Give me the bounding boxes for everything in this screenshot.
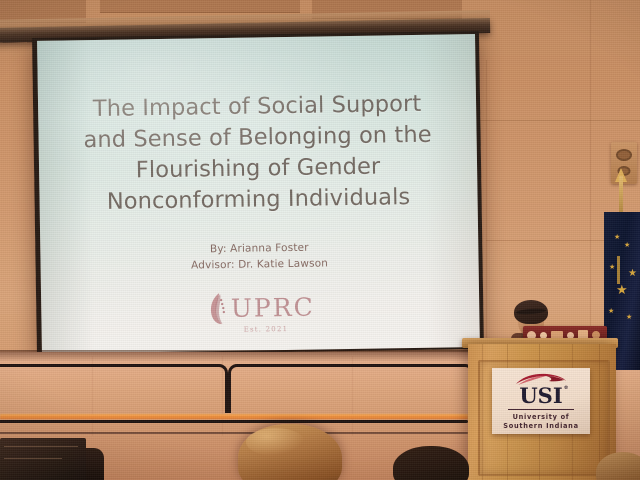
usi-subtitle-line: Southern Indiana [503,422,578,431]
flag-torch-emblem [617,256,620,284]
accent-light-strip [0,414,468,419]
projection-screen: The Impact of Social Support and Sense o… [32,31,484,356]
screen-surface: The Impact of Social Support and Sense o… [37,34,480,354]
wall-panel-inset [100,0,300,13]
slide-title-line: Nonconforming Individuals [57,181,460,218]
wall-seam [590,0,591,352]
list-item [238,424,342,480]
equipment-edge [4,446,78,447]
slide-advisor: Advisor: Dr. Katie Lawson [191,255,328,273]
slide-byline-block: By: Arianna Foster Advisor: Dr. Katie La… [191,239,328,273]
balcony-railing [228,364,474,413]
uprc-wordmark: UPRC [231,294,315,320]
balcony-railing [0,364,228,413]
usi-subtitle-line: University of [503,413,578,422]
usi-subtitle: University of Southern Indiana [503,413,578,431]
flag-star-icon: ★ [628,270,637,277]
uprc-logo: UPRC Est. 2021 [206,290,315,326]
flag-star-icon: ★ [609,264,615,271]
presentation-slide: The Impact of Social Support and Sense o… [37,34,480,354]
railing-bar [0,420,468,423]
list-item [393,446,469,480]
uprc-crest-icon [206,291,233,325]
usi-wordmark: USI ® [519,385,562,406]
uprc-established: Est. 2021 [244,325,289,334]
wall-seam [486,60,487,352]
slide-title-line: and Sense of Belonging on the [56,119,459,156]
plaque-divider [508,409,574,410]
flag-star-icon: ★ [608,308,614,315]
flag-star-icon: ★ [616,286,628,293]
slide-title: The Impact of Social Support and Sense o… [55,88,460,218]
flag-pole [619,176,623,216]
flag-star-icon: ★ [624,242,630,249]
presentation-room-photo: The Impact of Social Support and Sense o… [0,0,640,480]
bracket-ring [616,149,632,161]
registered-mark: ® [564,386,569,391]
flag-star-icon: ★ [614,234,620,241]
railing-bar [0,432,468,434]
foreground-equipment [0,438,86,480]
wall-seam [470,120,640,121]
usi-logo-plaque: USI ® University of Southern Indiana [492,368,590,434]
equipment-edge [4,458,62,459]
flag-star-icon: ★ [626,314,632,321]
